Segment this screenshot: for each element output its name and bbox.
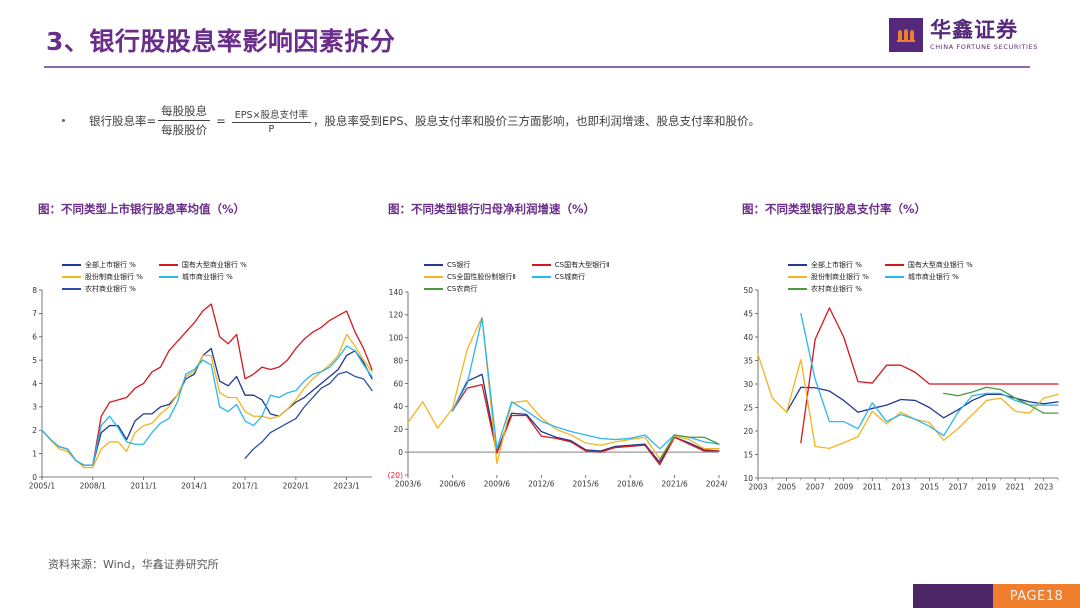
legend-item: CS银行 — [424, 260, 516, 270]
svg-text:40: 40 — [743, 333, 753, 342]
chart-3-title: 图：不同类型银行股息支付率（%） — [742, 201, 926, 217]
legend-swatch-icon — [159, 276, 178, 279]
svg-text:80: 80 — [393, 356, 403, 365]
legend-item: 全部上市银行 % — [62, 260, 143, 270]
chart-1-plot: 0123456782005/12008/12011/12014/12017/12… — [20, 282, 380, 497]
legend-label: 全部上市银行 % — [811, 260, 862, 270]
svg-text:2009: 2009 — [834, 483, 853, 492]
svg-text:(20): (20) — [388, 471, 403, 480]
legend-swatch-icon — [532, 276, 551, 279]
svg-text:2003: 2003 — [748, 483, 767, 492]
svg-text:10: 10 — [743, 474, 753, 483]
bullet-dot-icon — [62, 119, 65, 122]
svg-text:2012/6: 2012/6 — [528, 480, 555, 489]
logo-name-cn: 华鑫证券 — [930, 20, 1038, 41]
svg-text:100: 100 — [389, 334, 404, 343]
svg-text:2003/6: 2003/6 — [395, 480, 422, 489]
formula-fraction-1-denominator: 每股股价 — [158, 121, 210, 138]
chart-1-title: 图：不同类型上市银行股息率均值（%） — [38, 201, 245, 217]
svg-text:5: 5 — [32, 356, 37, 365]
formula-label: 银行股息率= — [89, 113, 156, 129]
legend-item: 股份制商业银行 % — [62, 272, 143, 282]
legend-label: CS城商行 — [555, 272, 585, 282]
svg-text:2007: 2007 — [806, 483, 825, 492]
legend-swatch-icon — [62, 276, 81, 279]
title-divider — [44, 66, 1030, 68]
chart-2-plot: (20)0204060801001201402003/62006/62009/6… — [382, 282, 727, 497]
chart-3-plot: 1015202530354045502003200520072009201120… — [736, 282, 1066, 500]
legend-label: 国有大型商业银行 % — [908, 260, 973, 270]
svg-text:45: 45 — [743, 309, 753, 318]
svg-text:30: 30 — [743, 380, 753, 389]
svg-text:120: 120 — [389, 311, 404, 320]
bullet-formula-row: 银行股息率= 每股股息 每股股价 = EPS×股息支付率 P ，股息率受到EPS… — [62, 103, 1022, 138]
svg-text:2017: 2017 — [948, 483, 967, 492]
legend-item: 股份制商业银行 % — [788, 272, 869, 282]
svg-text:8: 8 — [32, 286, 37, 295]
chart-2-title: 图：不同类型银行归母净利润增速（%） — [388, 201, 595, 217]
legend-label: 城市商业银行 % — [182, 272, 233, 282]
legend-label: 股份制商业银行 % — [811, 272, 869, 282]
svg-text:2011/1: 2011/1 — [130, 482, 157, 491]
svg-text:40: 40 — [393, 402, 403, 411]
legend-swatch-icon — [885, 264, 904, 267]
footer-bar-purple — [913, 584, 993, 608]
svg-text:2018/6: 2018/6 — [617, 480, 644, 489]
legend-item: CS全国性股份制银行Ⅱ — [424, 272, 516, 282]
svg-text:2021: 2021 — [1006, 483, 1025, 492]
svg-text:0: 0 — [398, 448, 403, 457]
legend-label: CS全国性股份制银行Ⅱ — [447, 272, 516, 282]
svg-text:35: 35 — [743, 356, 753, 365]
svg-text:20: 20 — [393, 425, 403, 434]
legend-item: CS国有大型银行Ⅱ — [532, 260, 610, 270]
svg-text:15: 15 — [743, 450, 753, 459]
svg-text:1: 1 — [32, 449, 37, 458]
svg-text:2011: 2011 — [863, 483, 882, 492]
legend-item: 国有大型商业银行 % — [885, 260, 973, 270]
svg-text:2024/6: 2024/6 — [706, 480, 727, 489]
logo-emblem-icon — [889, 18, 923, 52]
svg-text:6: 6 — [32, 333, 37, 342]
dividend-yield-formula: 银行股息率= 每股股息 每股股价 = EPS×股息支付率 P — [89, 103, 313, 138]
legend-item: 全部上市银行 % — [788, 260, 869, 270]
svg-text:2014/1: 2014/1 — [181, 482, 208, 491]
legend-label: 股份制商业银行 % — [85, 272, 143, 282]
svg-text:20: 20 — [743, 427, 753, 436]
svg-text:2020/1: 2020/1 — [283, 482, 310, 491]
svg-text:2019: 2019 — [977, 483, 996, 492]
svg-text:2021/6: 2021/6 — [661, 480, 688, 489]
svg-text:140: 140 — [389, 288, 404, 297]
svg-text:2015: 2015 — [920, 483, 939, 492]
legend-swatch-icon — [159, 264, 178, 267]
formula-fraction-1-numerator: 每股股息 — [158, 103, 210, 121]
legend-swatch-icon — [424, 264, 443, 267]
svg-text:25: 25 — [743, 403, 753, 412]
svg-text:2015/6: 2015/6 — [573, 480, 600, 489]
legend-item: CS城商行 — [532, 272, 610, 282]
formula-equals: = — [216, 114, 226, 128]
svg-text:60: 60 — [393, 379, 403, 388]
legend-item: 国有大型商业银行 % — [159, 260, 247, 270]
legend-swatch-icon — [424, 276, 443, 279]
svg-text:2013: 2013 — [891, 483, 910, 492]
legend-swatch-icon — [788, 264, 807, 267]
legend-label: 国有大型商业银行 % — [182, 260, 247, 270]
svg-text:3: 3 — [32, 403, 37, 412]
source-note: 资料来源：Wind，华鑫证券研究所 — [48, 556, 219, 572]
svg-text:7: 7 — [32, 309, 37, 318]
legend-label: 城市商业银行 % — [908, 272, 959, 282]
legend-swatch-icon — [788, 276, 807, 279]
legend-swatch-icon — [62, 264, 81, 267]
company-logo: 华鑫证券 CHINA FORTUNE SECURITIES — [889, 18, 1038, 52]
svg-text:2006/6: 2006/6 — [439, 480, 466, 489]
logo-name-en: CHINA FORTUNE SECURITIES — [930, 44, 1038, 51]
legend-label: CS国有大型银行Ⅱ — [555, 260, 610, 270]
formula-fraction-2-denominator: P — [266, 123, 278, 135]
legend-swatch-icon — [885, 276, 904, 279]
svg-text:2017/1: 2017/1 — [232, 482, 259, 491]
page-title: 3、银行股股息率影响因素拆分 — [46, 22, 395, 58]
bullet-tail-text: ，股息率受到EPS、股息支付率和股价三方面影响，也即利润增速、股息支付率和股价。 — [313, 113, 760, 129]
svg-text:2009/6: 2009/6 — [484, 480, 511, 489]
formula-fraction-1: 每股股息 每股股价 — [158, 103, 210, 138]
svg-text:2023/1: 2023/1 — [333, 482, 360, 491]
legend-item: 城市商业银行 % — [885, 272, 973, 282]
svg-text:0: 0 — [32, 473, 37, 482]
svg-text:2: 2 — [32, 426, 37, 435]
legend-swatch-icon — [532, 264, 551, 267]
svg-text:50: 50 — [743, 286, 753, 295]
legend-label: 全部上市银行 % — [85, 260, 136, 270]
formula-fraction-2-numerator: EPS×股息支付率 — [232, 107, 311, 123]
svg-text:2023: 2023 — [1034, 483, 1053, 492]
svg-text:2005: 2005 — [777, 483, 796, 492]
svg-text:2005/1: 2005/1 — [29, 482, 56, 491]
slide: 3、银行股股息率影响因素拆分 华鑫证券 CHINA FORTUNE SECURI… — [0, 0, 1080, 608]
page-number: PAGE18 — [993, 584, 1080, 608]
formula-fraction-2: EPS×股息支付率 P — [232, 107, 311, 135]
svg-text:2008/1: 2008/1 — [80, 482, 107, 491]
legend-label: CS银行 — [447, 260, 470, 270]
legend-item: 城市商业银行 % — [159, 272, 247, 282]
svg-text:4: 4 — [32, 379, 37, 388]
